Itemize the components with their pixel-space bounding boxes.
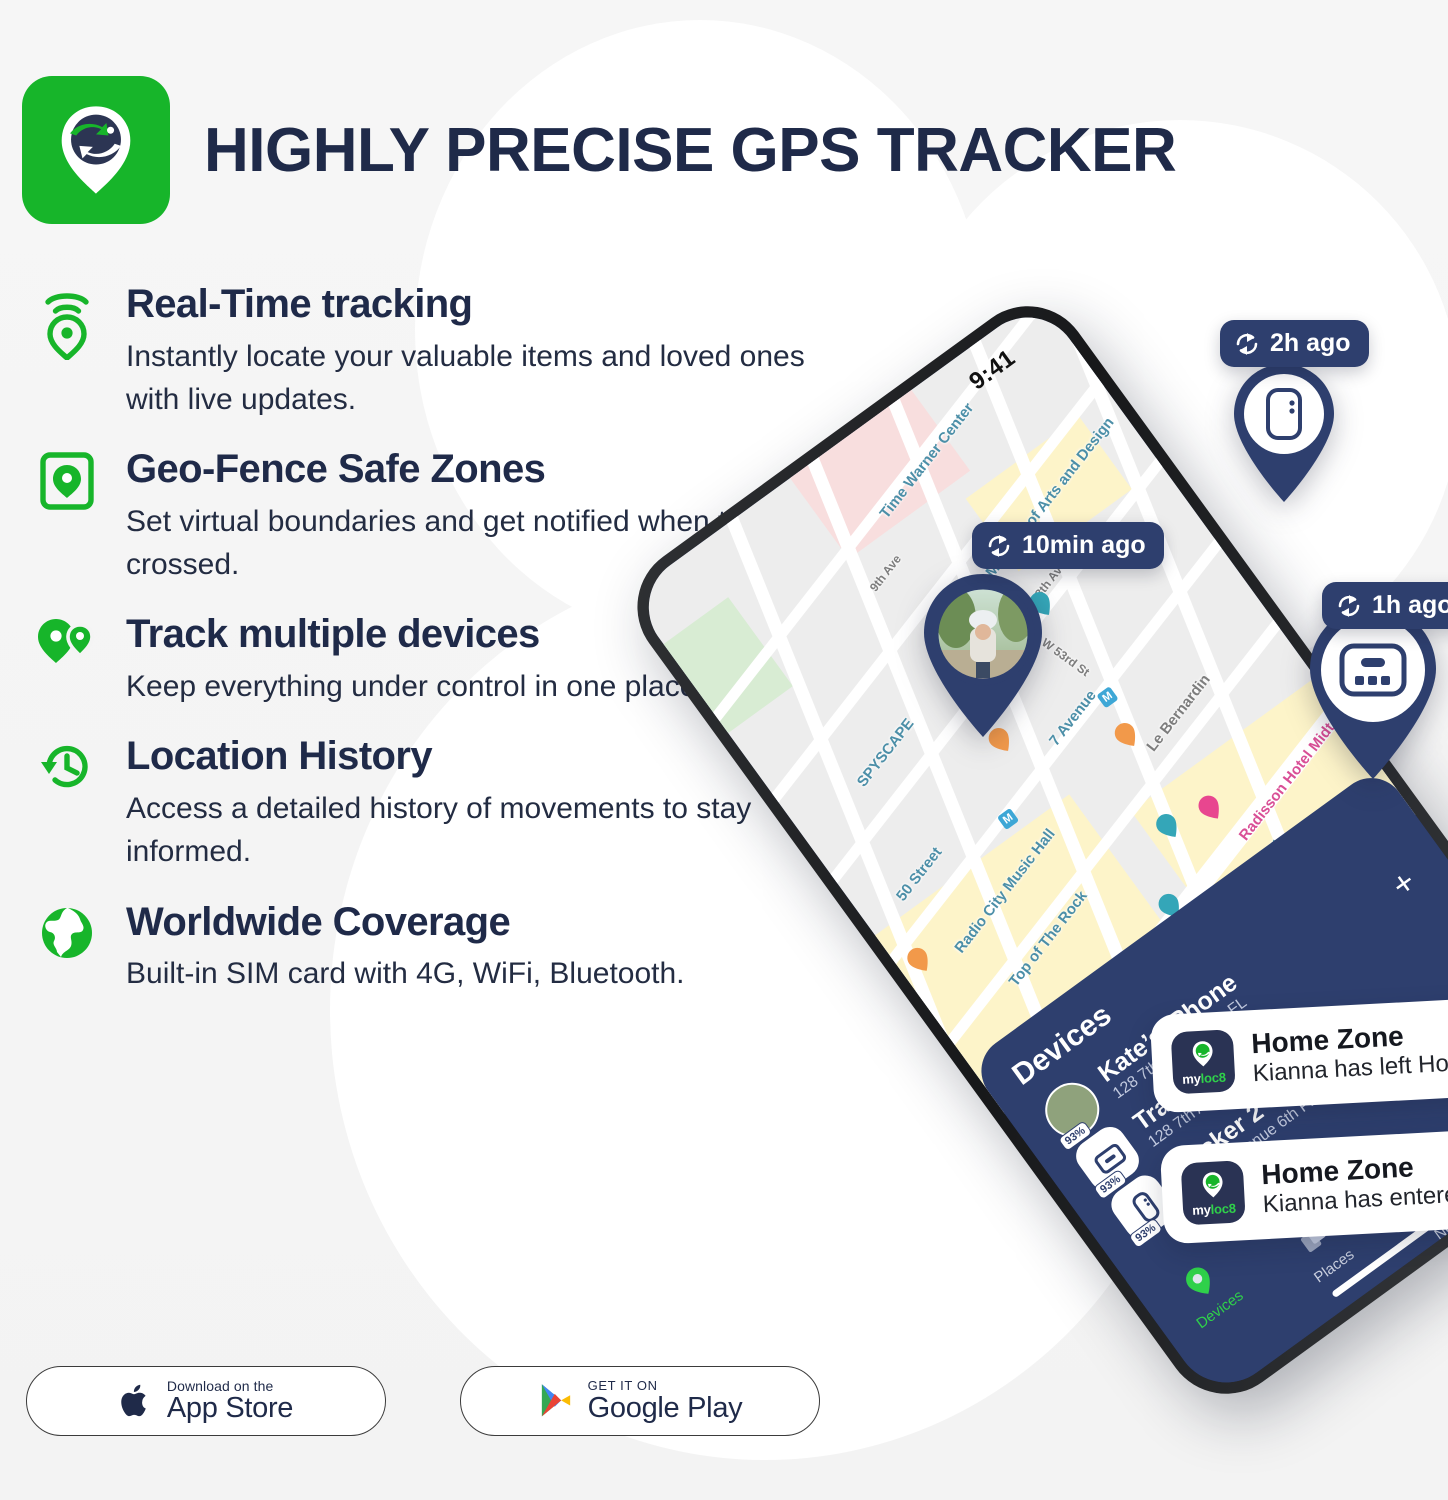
- app-wordmark: myloc8: [1182, 1069, 1226, 1086]
- tracker-card-pin[interactable]: [1224, 358, 1344, 508]
- phone-mockup: 9:41: [742, 300, 1448, 1400]
- sync-icon: [986, 533, 1012, 559]
- promo-banner: HIGHLY PRECISE GPS TRACKER Real-Time tra…: [0, 0, 1448, 1500]
- worldwide-coverage-icon: [34, 900, 100, 996]
- pin-icon: [1197, 1169, 1229, 1201]
- app-store-sub: Download on the: [167, 1379, 293, 1394]
- feature-item: Worldwide Coverage Built-in SIM card wit…: [34, 900, 854, 996]
- header: HIGHLY PRECISE GPS TRACKER: [22, 76, 1176, 224]
- feature-item: Real-Time tracking Instantly locate your…: [34, 282, 854, 421]
- app-store-name: App Store: [167, 1393, 293, 1423]
- location-history-icon: [34, 734, 100, 873]
- time-badge-label: 10min ago: [1022, 531, 1146, 560]
- time-badge-1h: 1h ago: [1322, 582, 1448, 629]
- feature-desc: Built-in SIM card with 4G, WiFi, Bluetoo…: [126, 952, 826, 995]
- myloc8-app-icon: myloc8: [1171, 1029, 1236, 1094]
- multiple-devices-icon: [34, 612, 100, 708]
- time-badge-label: 1h ago: [1372, 591, 1448, 620]
- google-play-sub: GET IT ON: [588, 1379, 743, 1393]
- geofence-icon: [34, 447, 100, 586]
- time-badge-2h: 2h ago: [1220, 320, 1369, 367]
- google-play-icon: [538, 1381, 574, 1421]
- avatar-photo-pin[interactable]: [912, 568, 1054, 746]
- google-play-name: Google Play: [588, 1393, 743, 1423]
- sync-icon: [1336, 593, 1362, 619]
- pin-icon: [1176, 1258, 1223, 1305]
- realtime-tracking-icon: [34, 282, 100, 421]
- map-label: 7 Avenue: [1046, 687, 1100, 749]
- pin-icon: [1187, 1038, 1219, 1070]
- sync-icon: [1234, 331, 1260, 357]
- myloc8-app-icon: [22, 76, 170, 224]
- tab-devices[interactable]: Devices: [1145, 1236, 1269, 1349]
- time-badge-10min: 10min ago: [972, 522, 1164, 569]
- feature-desc: Access a detailed history of movements t…: [126, 787, 826, 873]
- feature-desc: Instantly locate your valuable items and…: [126, 335, 826, 421]
- map-label: 9th Ave: [867, 552, 904, 594]
- store-badges: Download on the App Store GET IT ON Goog…: [26, 1366, 820, 1436]
- notification-card[interactable]: myloc8 Home Zone Kianna has entered Home: [1160, 1126, 1448, 1245]
- myloc8-app-icon: myloc8: [1181, 1160, 1246, 1225]
- app-wordmark: myloc8: [1192, 1200, 1236, 1217]
- app-store-button[interactable]: Download on the App Store: [26, 1366, 386, 1436]
- apple-icon: [119, 1381, 153, 1421]
- notification-card[interactable]: myloc8 Home Zone Kianna has left Home: [1150, 995, 1448, 1114]
- page-title: HIGHLY PRECISE GPS TRACKER: [204, 115, 1176, 186]
- time-badge-label: 2h ago: [1270, 329, 1351, 358]
